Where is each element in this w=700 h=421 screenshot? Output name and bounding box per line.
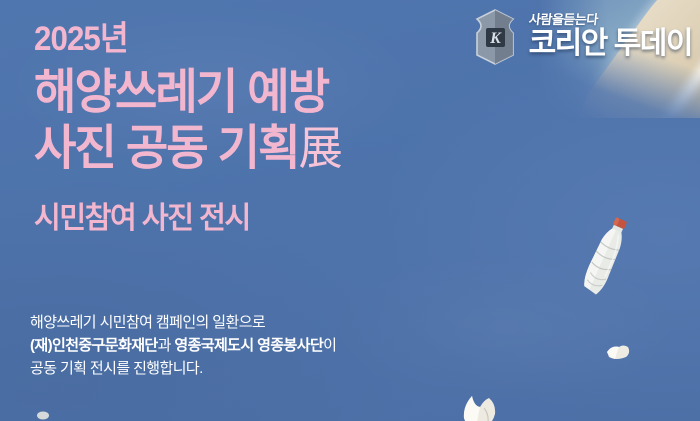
shield-k-icon: K [469,8,521,66]
headline-subtitle: 시민참여 사진 전시 [34,204,346,234]
body-org-1: (재)인천중구문화재단 [30,337,158,354]
headline-block: 2025년 해양쓰레기 예방 사진 공동 기획展 시민참여 사진 전시 [34,22,356,234]
body-copy: 해양쓰레기 시민참여 캠페인의 일환으로 (재)인천중구문화재단과 영종국제도시… [30,312,336,380]
body-line-3: 공동 기획 전시를 진행합니다. [30,358,336,381]
korean-today-logo[interactable]: K 사람을듣는다 코리안 투데이 [469,8,692,66]
body-conj-1: 과 [158,337,175,354]
body-line-1: 해양쓰레기 시민참여 캠페인의 일환으로 [30,312,336,335]
headline-hanja-jeon: 展 [299,123,343,174]
body-line-2: (재)인천중구문화재단과 영종국제도시 영종봉사단이 [30,335,336,358]
headline-line-1: 해양쓰레기 예방 [34,66,343,120]
logo-name: 코리안 투데이 [529,29,692,59]
poster-canvas: K 사람을듣는다 코리안 투데이 2025년 해양쓰레기 예방 사진 공동 기획… [0,0,700,421]
headline-line-2: 사진 공동 기획展 [34,122,343,176]
styrofoam-debris-large [458,390,502,421]
logo-wordmark: 사람을듣는다 코리안 투데이 [529,13,692,61]
styrofoam-debris-small [604,343,632,361]
headline-line-2-korean: 사진 공동 기획 [34,122,299,175]
body-conj-2: 이 [323,337,336,354]
styrofoam-speck [36,410,50,421]
svg-text:K: K [489,30,502,47]
logo-tagline: 사람을듣는다 [528,13,598,26]
headline-year: 2025년 [34,22,330,56]
body-org-2: 영종국제도시 영종봉사단 [174,337,323,354]
